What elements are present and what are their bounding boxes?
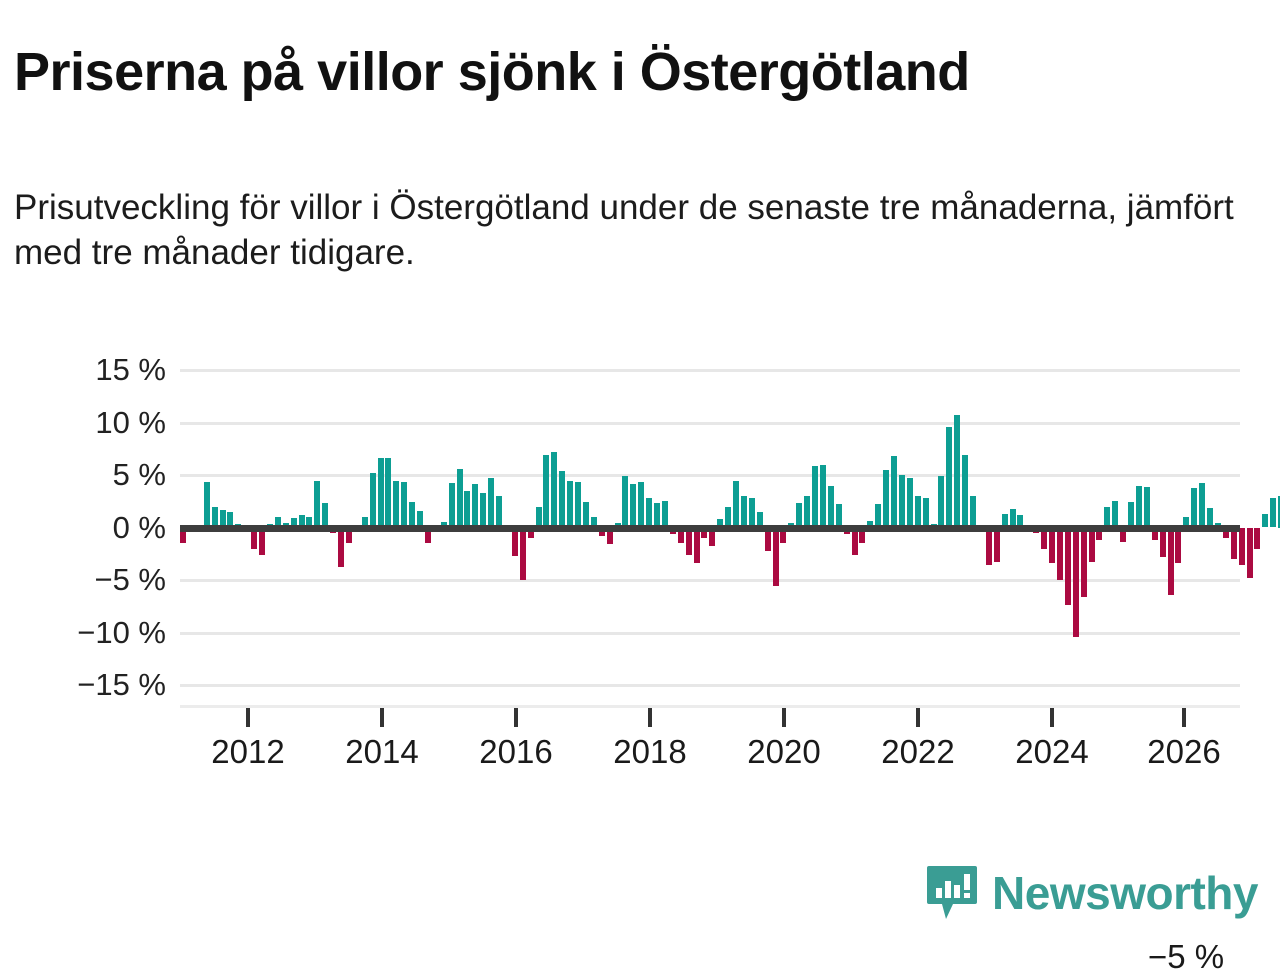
bar [1136, 486, 1142, 528]
zero-line [180, 525, 1240, 532]
bar [449, 483, 455, 527]
bar [733, 481, 739, 527]
bar [1231, 528, 1237, 560]
bar [915, 496, 921, 528]
newsworthy-logo: Newsworthy [925, 864, 1258, 922]
y-axis-labels: 15 %10 %5 %0 %−5 %−10 %−15 % [0, 370, 166, 685]
bar [804, 496, 810, 528]
bar [1175, 528, 1181, 564]
last-value-annotation: −5 % [1148, 938, 1224, 976]
y-axis-tick-label: −15 % [77, 667, 166, 703]
bar [891, 456, 897, 527]
bar [1065, 528, 1071, 606]
bar [464, 491, 470, 528]
bar [393, 481, 399, 527]
bar [946, 427, 952, 528]
bar [1254, 528, 1260, 549]
y-axis-tick-label: 10 % [95, 405, 166, 441]
bar [401, 482, 407, 527]
bar [899, 475, 905, 528]
x-axis-tick [1182, 708, 1186, 727]
bar [259, 528, 265, 555]
bar [543, 455, 549, 527]
y-axis-tick-label: −5 % [94, 562, 166, 598]
page-title: Priserna på villor sjönk i Östergötland [14, 44, 1264, 101]
bar [378, 458, 384, 527]
x-axis-tick [648, 708, 652, 727]
bar [694, 528, 700, 564]
bar [883, 470, 889, 528]
bar [970, 496, 976, 528]
bar [686, 528, 692, 555]
bar [1049, 528, 1055, 564]
x-axis-tick-label: 2022 [881, 733, 954, 771]
page-subtitle: Prisutveckling för villor i Östergötland… [14, 186, 1244, 276]
bar [1073, 528, 1079, 637]
bar [496, 496, 502, 528]
x-axis-tick [380, 708, 384, 727]
x-axis-tick [782, 708, 786, 727]
bar [385, 458, 391, 527]
x-axis-tick [916, 708, 920, 727]
bar [1057, 528, 1063, 581]
bar [1247, 528, 1253, 578]
bar [938, 476, 944, 527]
x-axis-tick-label: 2018 [613, 733, 686, 771]
bar-chart: 15 %10 %5 %0 %−5 %−10 %−15 % 20122014201… [0, 350, 1280, 750]
bar [567, 481, 573, 527]
bar [370, 473, 376, 528]
bar [1239, 528, 1245, 566]
x-axis-line [180, 705, 1240, 708]
bar [622, 476, 628, 527]
bar [520, 528, 526, 581]
x-axis-tick-label: 2016 [479, 733, 552, 771]
bar [457, 469, 463, 528]
bar [828, 486, 834, 528]
bar [1199, 483, 1205, 527]
bar [820, 465, 826, 528]
bar [559, 471, 565, 528]
bar [488, 478, 494, 527]
bar [480, 493, 486, 528]
bar [1081, 528, 1087, 597]
bar [962, 455, 968, 527]
bar [630, 484, 636, 527]
bar [907, 478, 913, 527]
plot-area [180, 370, 1240, 685]
bar [204, 482, 210, 527]
bar [1270, 498, 1276, 527]
bar [338, 528, 344, 568]
bar [551, 452, 557, 528]
newsworthy-wordmark: Newsworthy [992, 870, 1258, 916]
x-axis-tick-label: 2024 [1015, 733, 1088, 771]
y-axis-tick-label: 15 % [95, 352, 166, 388]
bar [314, 481, 320, 527]
y-axis-tick-label: 5 % [113, 457, 166, 493]
x-axis-tick-label: 2020 [747, 733, 820, 771]
bar [923, 498, 929, 527]
x-axis-tick-label: 2026 [1147, 733, 1220, 771]
bar [512, 528, 518, 556]
bar [812, 466, 818, 528]
y-axis-tick-label: −10 % [77, 615, 166, 651]
x-axis-tick-label: 2014 [345, 733, 418, 771]
x-axis-tick [514, 708, 518, 727]
x-axis-tick-label: 2012 [211, 733, 284, 771]
bar [646, 498, 652, 527]
bar [1160, 528, 1166, 557]
y-axis-tick-label: 0 % [113, 510, 166, 546]
bar [852, 528, 858, 555]
bar [1089, 528, 1095, 563]
bar [575, 482, 581, 527]
bar [1144, 487, 1150, 528]
bar [638, 482, 644, 527]
bar [741, 496, 747, 528]
bar [1191, 488, 1197, 528]
bar [749, 498, 755, 527]
x-axis-tick [246, 708, 250, 727]
bar-chart-speech-bubble-icon [925, 864, 979, 922]
bar [1168, 528, 1174, 595]
bar [994, 528, 1000, 563]
bar [954, 415, 960, 527]
bar [986, 528, 992, 566]
x-axis-tick [1050, 708, 1054, 727]
bar [773, 528, 779, 587]
bar [472, 484, 478, 527]
bar [1262, 514, 1268, 528]
